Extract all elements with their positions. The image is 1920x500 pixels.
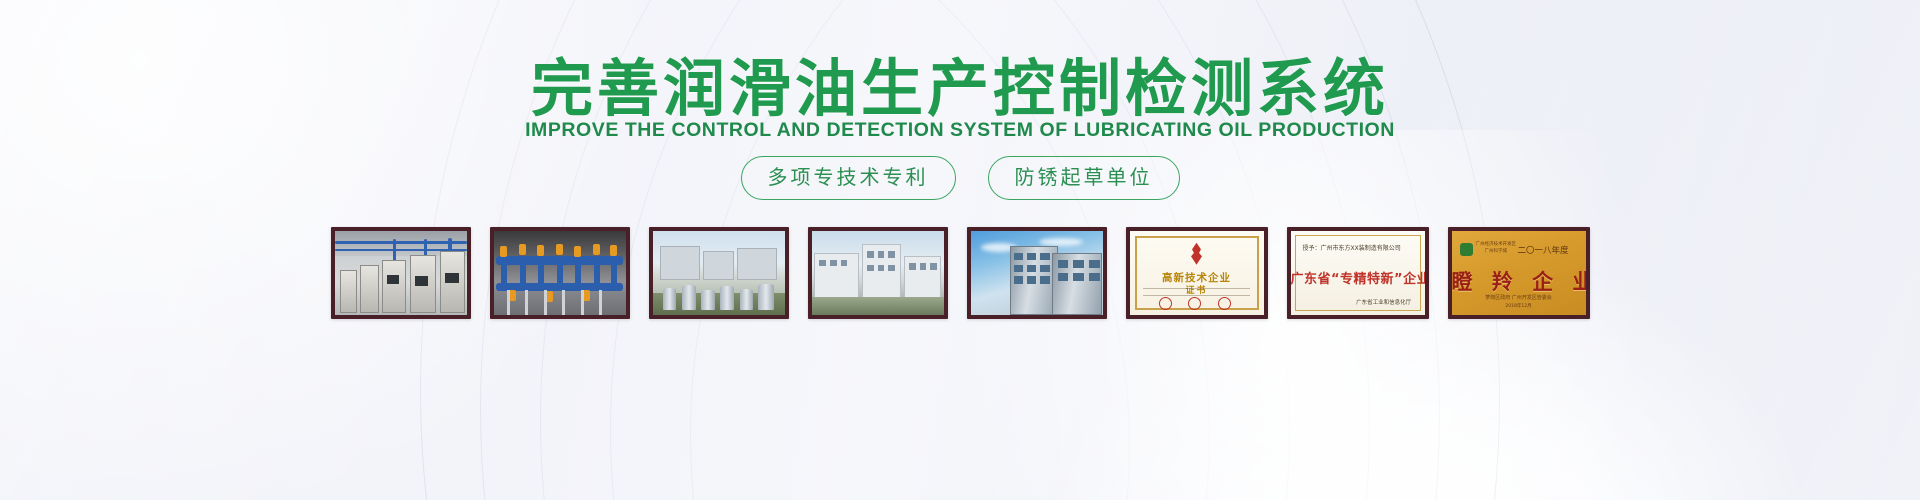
gallery-strip: 高新技术企业 证书 授予：广州市东方XX装制造有限公司 广东省“专精特新”企业 …	[0, 227, 1920, 319]
banner-content: 完善润滑油生产控制检测系统 IMPROVE THE CONTROL AND DE…	[0, 0, 1920, 500]
white-factory-buildings-image	[812, 231, 944, 315]
development-zone-logo-icon	[1460, 243, 1473, 256]
blue-valve-manifold-image	[494, 231, 626, 315]
badge-antirust-standard[interactable]: 防锈起草单位	[988, 156, 1180, 200]
gallery-item-gazelle-enterprise-plaque[interactable]: 广州经济技术开发区广州科学城 二〇一八年度 瞪 羚 企 业 萝岗区政府 广州开发…	[1448, 227, 1590, 319]
plaque-title: 瞪 羚 企 业	[1452, 266, 1586, 296]
plaque-award-line: 授予：广州市东方XX装制造有限公司	[1303, 243, 1401, 252]
banner-subheadline: IMPROVE THE CONTROL AND DETECTION SYSTEM…	[0, 119, 1920, 142]
plaque-title: 广东省“专精特新”企业	[1291, 268, 1425, 287]
gallery-item-blue-valve-manifold[interactable]	[490, 227, 630, 319]
banner-headline: 完善润滑油生产控制检测系统	[0, 56, 1920, 121]
gazelle-enterprise-plaque-image: 广州经济技术开发区广州科学城 二〇一八年度 瞪 羚 企 业 萝岗区政府 广州开发…	[1452, 231, 1586, 315]
gallery-item-specialized-new-enterprise-plaque[interactable]: 授予：广州市东方XX装制造有限公司 广东省“专精特新”企业 广东省工业和信息化厅	[1287, 227, 1429, 319]
gallery-item-factory-pipeline-corridor[interactable]	[331, 227, 471, 319]
gallery-item-office-tower[interactable]	[967, 227, 1107, 319]
badge-row: 多项专技术专利 防锈起草单位	[0, 156, 1920, 200]
plaque-logo-text: 广州经济技术开发区广州科学城	[1476, 242, 1517, 256]
plant-storage-tanks-image	[653, 231, 785, 315]
badge-patents[interactable]: 多项专技术专利	[741, 156, 956, 200]
specialized-new-enterprise-plaque-image: 授予：广州市东方XX装制造有限公司 广东省“专精特新”企业 广东省工业和信息化厅	[1291, 231, 1425, 315]
plaque-date: 2018年12月	[1452, 303, 1586, 309]
factory-pipeline-corridor-image	[335, 231, 467, 315]
office-tower-image	[971, 231, 1103, 315]
gallery-item-plant-storage-tanks[interactable]	[649, 227, 789, 319]
plaque-issuer: 广东省工业和信息化厅	[1356, 298, 1411, 306]
plaque-issuer: 萝岗区政府 广州开发区管委会	[1452, 294, 1586, 301]
plaque-year: 二〇一八年度	[1518, 244, 1569, 256]
gallery-item-high-tech-enterprise-certificate[interactable]: 高新技术企业 证书	[1126, 227, 1268, 319]
promo-banner: 完善润滑油生产控制检测系统 IMPROVE THE CONTROL AND DE…	[0, 0, 1920, 500]
high-tech-enterprise-certificate-image: 高新技术企业 证书	[1130, 231, 1264, 315]
gallery-item-white-factory-buildings[interactable]	[808, 227, 948, 319]
